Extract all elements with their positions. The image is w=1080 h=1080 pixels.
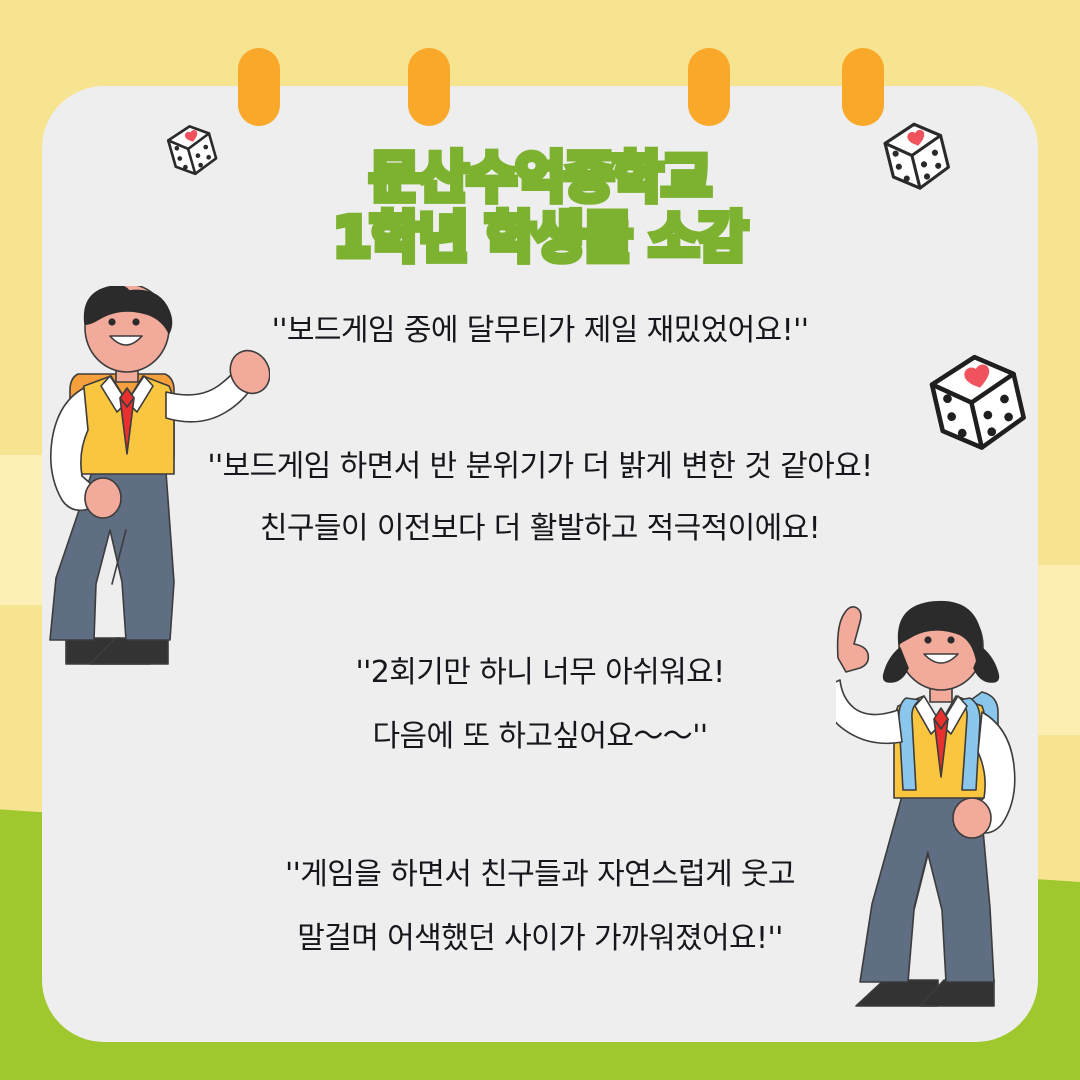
die-small-left-icon bbox=[152, 112, 228, 188]
paper-clip-3 bbox=[688, 48, 730, 126]
girl-student-illustration bbox=[836, 600, 1056, 1020]
paper-clip-1 bbox=[238, 48, 280, 126]
poster-canvas: 문산수억중학교 1학년 학생들 소감 ''보드게임 중에 달무티가 제일 재밌었… bbox=[0, 0, 1080, 1080]
die-top-right-icon bbox=[866, 108, 962, 204]
boy-student-illustration bbox=[40, 286, 270, 676]
die-large-right-icon bbox=[908, 336, 1040, 468]
title-line-2: 1학년 학생들 소감 bbox=[0, 208, 1080, 268]
paper-clip-2 bbox=[408, 48, 450, 126]
